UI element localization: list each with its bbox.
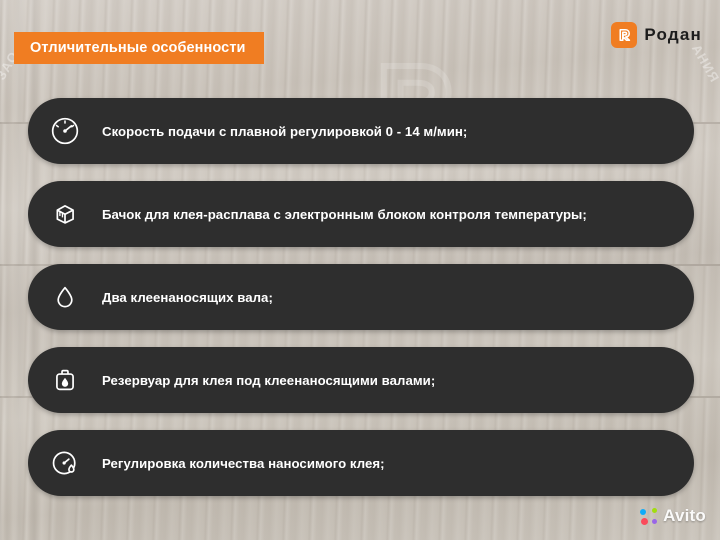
avito-dots-icon [640, 508, 657, 525]
brand-logo: Родан [611, 22, 702, 48]
feature-row: Два клеенаносящих вала; [28, 264, 694, 330]
rodan-logo-icon [611, 22, 637, 48]
avito-watermark: Avito [640, 506, 706, 526]
tank-box-icon [28, 197, 102, 231]
feature-row: Регулировка количества наносимого клея; [28, 430, 694, 496]
feature-text: Регулировка количества наносимого клея; [102, 456, 405, 471]
speedometer-icon [28, 114, 102, 148]
section-title-text: Отличительные особенности [30, 40, 246, 56]
feature-text: Два клеенаносящих вала; [102, 290, 293, 305]
feature-row: Скорость подачи с плавной регулировкой 0… [28, 98, 694, 164]
glue-reservoir-icon [28, 363, 102, 397]
brand-name: Родан [644, 25, 702, 45]
glue-amount-gauge-icon [28, 446, 102, 480]
avito-label: Avito [663, 506, 706, 526]
feature-text: Резервуар для клея под клеенаносящими ва… [102, 373, 455, 388]
feature-text: Бачок для клея-расплава с электронным бл… [102, 207, 607, 222]
feature-row: Бачок для клея-расплава с электронным бл… [28, 181, 694, 247]
feature-row: Резервуар для клея под клеенаносящими ва… [28, 347, 694, 413]
droplet-icon [28, 280, 102, 314]
section-title-badge: Отличительные особенности [14, 32, 264, 64]
poster-canvas: ЗАО АНИЯ Отличительные особенности Родан [0, 0, 720, 540]
feature-list: Скорость подачи с плавной регулировкой 0… [28, 98, 694, 496]
background-watermark-text: АНИЯ [688, 42, 720, 85]
feature-text: Скорость подачи с плавной регулировкой 0… [102, 124, 487, 139]
